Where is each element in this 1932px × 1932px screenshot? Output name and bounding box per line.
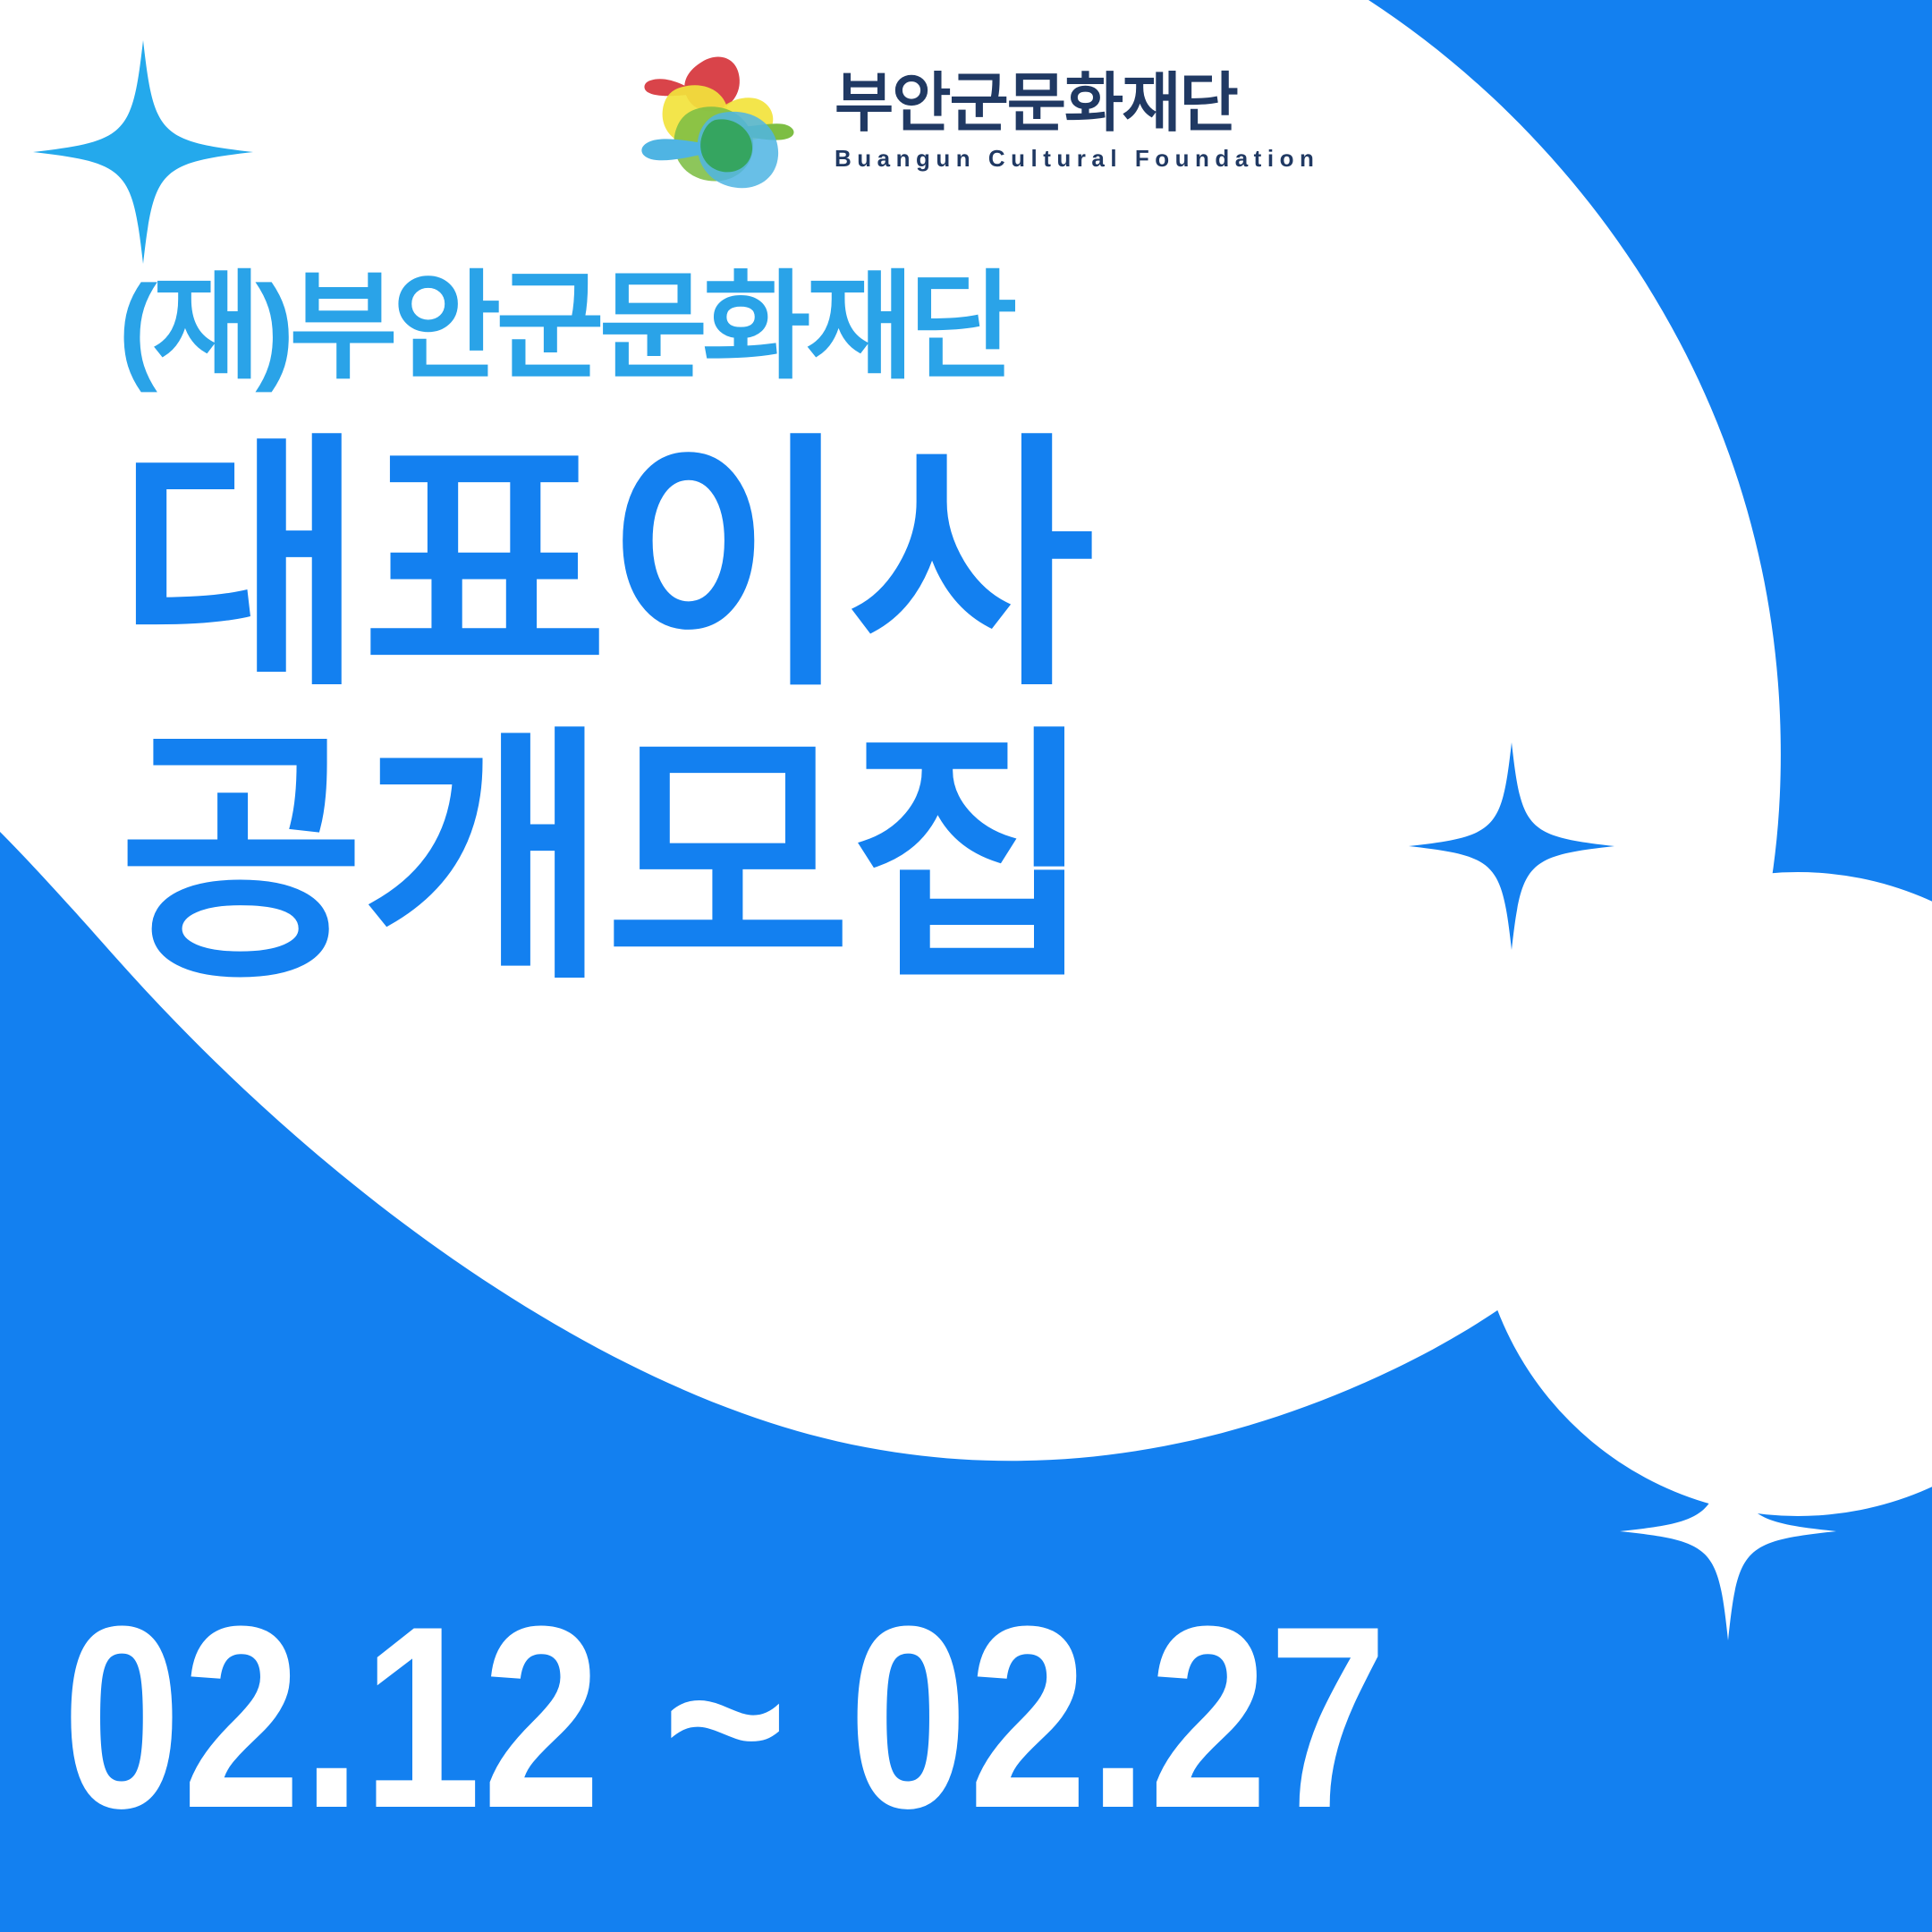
poster-canvas: 부안군문화재단 Buangun Cultural Foundation (재)부… [0,0,1932,1932]
logo-korean-wordmark: 부안군문화재단 [835,72,1319,136]
foundation-logo: 부안군문화재단 Buangun Cultural Foundation [626,43,1324,195]
logo-mark-icon [626,50,818,189]
logo-english-wordmark: Buangun Cultural Foundation [835,147,1319,170]
organization-subtitle: (재)부안군문화재단 [118,268,1281,386]
headline-line-2: 공개모집 [118,723,1281,996]
logo-wordmark: 부안군문화재단 Buangun Cultural Foundation [835,68,1319,170]
headline-line-1: 대표이사 [118,429,1281,703]
headline-block: (재)부안군문화재단 대표이사 공개모집 [118,268,1281,996]
recruitment-date-range: 02.12 ~ 02.27 [63,1588,1456,1847]
